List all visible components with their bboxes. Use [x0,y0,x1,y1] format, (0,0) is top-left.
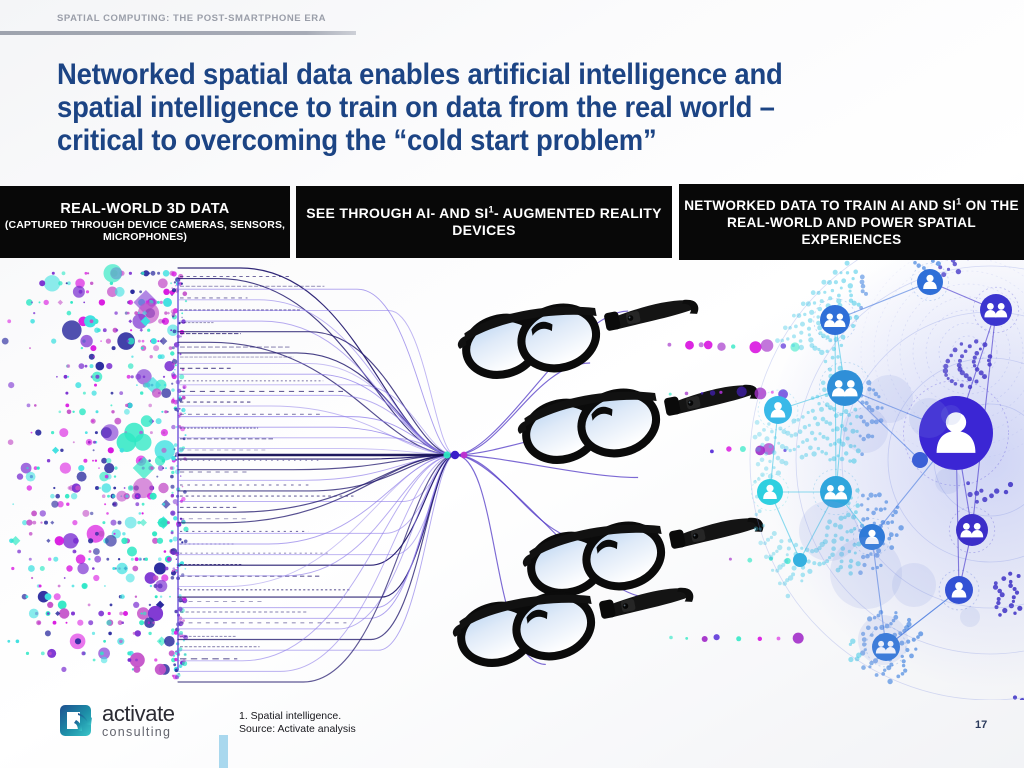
globe-halftone-dot [903,669,907,673]
data-dot [66,503,69,506]
globe-halftone-dot [902,664,905,667]
trail-dot [668,343,672,347]
data-dot [179,538,182,541]
globe-halftone-dot [901,672,905,676]
globe-halftone-dot [792,344,795,347]
globe-halftone-dot [756,447,761,452]
data-dot [71,612,75,616]
data-dot [17,473,23,479]
data-dot [92,567,95,570]
data-dot [51,339,56,344]
data-dot [52,447,59,454]
group-icon-head-left [827,485,834,492]
data-dot [110,282,113,285]
data-dot [31,301,33,303]
globe-halftone-dot [964,349,968,353]
globe-halftone-dot [775,338,780,343]
trail-dot [777,637,781,641]
globe-halftone-dot [801,302,806,307]
globe-halftone-dot [844,451,848,455]
globe-halftone-dot [784,559,789,564]
globe-halftone-dot [771,569,774,572]
data-dot [158,557,162,561]
data-dot [40,510,46,516]
data-dot [79,363,85,369]
data-dot [171,309,175,313]
data-dot [173,499,178,504]
data-dot [53,557,58,562]
data-dot [171,425,175,429]
trail-dot [736,636,741,641]
data-dot [140,391,143,394]
globe-halftone-dot [755,420,760,425]
network-node-group[interactable] [956,514,988,546]
data-dot [62,271,66,275]
data-dot [167,325,178,336]
globe-halftone-dot [828,338,832,342]
data-dot [182,446,185,449]
data-dot [157,538,163,544]
globe-halftone-dot [800,547,803,550]
data-dot [180,336,182,338]
globe-halftone-dot [889,532,894,537]
data-dot [183,386,186,389]
data-dot [85,431,88,434]
globe-halftone-dot [968,492,973,497]
data-dot [108,612,111,615]
trail-dot [685,341,694,350]
group-icon-head-right [837,313,843,319]
globe-halftone-dot [807,569,812,574]
data-dot [142,340,145,343]
globe-halftone-dot [800,455,805,460]
trail-dot [669,636,673,640]
data-dot [72,585,75,588]
data-dot [88,538,93,543]
globe-halftone-dot [852,277,855,280]
data-dot [8,382,14,388]
data-dot [155,664,166,675]
globe-halftone-dot [792,566,797,571]
globe-halftone-dot [754,527,758,531]
globe-halftone-dot [822,435,826,439]
globe-halftone-dot [777,545,782,550]
data-dot [132,566,138,572]
data-dot [27,485,32,490]
data-dot [163,298,172,307]
globe-halftone-dot [861,494,865,498]
globe-halftone-dot [885,500,889,504]
data-dot [163,270,170,277]
globe-halftone-dot [792,314,796,318]
data-dot [59,411,62,414]
data-dot [75,486,80,491]
data-dot [101,657,108,664]
data-dot [139,620,144,625]
globe-halftone-dot [831,356,835,360]
data-dot [135,596,137,598]
data-dot [114,311,117,314]
globe-halftone-dot [816,422,821,427]
data-dot [152,622,154,624]
data-dot [83,392,86,395]
globe-halftone-dot [827,280,832,285]
trail-dot [719,391,722,394]
globe-halftone-dot [812,561,816,565]
globe-halftone-dot [907,618,911,622]
data-dot [60,463,71,474]
data-dot [111,520,117,526]
globe-halftone-dot [1008,572,1012,576]
data-dot [124,487,126,489]
data-dot [174,443,178,447]
data-dot [94,384,97,387]
data-dot [39,280,45,286]
data-dot [80,335,92,347]
globe-halftone-dot [757,477,760,480]
globe-halftone-dot [1013,612,1016,615]
data-dot [44,275,60,291]
data-dot [93,449,95,451]
globe-halftone-dot [799,345,804,350]
data-dot [114,466,117,469]
globe-halftone-dot [871,511,876,516]
data-dot [154,563,166,575]
globe-halftone-dot [768,460,771,463]
data-dot [125,517,137,529]
data-dot [66,282,68,284]
data-dot [153,575,159,581]
data-dot [108,447,114,453]
data-dot [128,300,133,305]
data-dot [44,300,49,305]
globe-halftone-dot [886,665,891,670]
data-dot [153,345,159,351]
globe-halftone-dot [864,292,868,296]
data-dot [148,272,150,274]
data-dot [161,388,171,398]
data-dot [114,475,116,477]
data-dot [95,431,98,434]
data-dot [26,652,29,655]
data-dot [174,448,176,450]
data-dot [150,355,153,358]
data-dot [98,531,104,537]
data-dot [92,460,94,462]
data-dot [167,521,170,524]
data-dot [45,630,51,636]
globe-halftone-dot [831,429,834,432]
globe-halftone-dot [769,445,773,449]
globe-halftone-dot [887,679,892,684]
data-dot [77,620,83,626]
data-dot [26,467,28,469]
globe-halftone-dot [849,643,852,646]
page-title: Networked spatial data enables artificia… [57,58,857,157]
data-dot [160,301,163,304]
trail-dot [750,341,762,353]
data-dot [110,604,113,607]
data-dot [157,340,159,342]
flow-curve [178,417,455,455]
network-node-plain[interactable] [793,553,807,567]
data-dot [167,312,170,315]
globe-halftone-dot [914,648,917,651]
data-dot [184,653,187,656]
globe-halftone-dot [994,581,998,585]
globe-halftone-dot [979,489,983,493]
data-dot [51,501,58,508]
globe-halftone-dot [828,422,832,426]
data-dot [175,610,177,612]
data-dot [127,375,131,379]
smart-glasses [519,496,770,607]
trail-dot [704,341,713,350]
data-dot [135,630,141,636]
globe-halftone-dot [822,387,827,392]
data-dot [169,539,172,542]
data-dot [133,666,140,673]
footnote-line-2: Source: Activate analysis [239,723,356,736]
data-dot [47,602,53,608]
globe-halftone-dot [811,451,816,456]
data-dot [165,567,169,571]
globe-halftone-dot [807,411,810,414]
globe-halftone-dot [1015,591,1019,595]
data-dot [182,486,184,488]
data-dot [127,312,130,315]
globe-halftone-dot [808,333,811,336]
data-dot [82,651,86,655]
data-dot [79,408,86,415]
data-dot [159,640,161,642]
data-dot [128,319,132,323]
focal-node-magenta [461,452,468,459]
data-dot [87,272,89,274]
data-dot [180,353,182,355]
data-dot [181,408,185,412]
trail-dot [710,390,715,395]
globe-halftone-dot [786,594,791,599]
globe-halftone-dot [947,377,950,380]
globe-halftone-dot [879,508,883,512]
data-dot [85,272,88,275]
globe-halftone-dot [1017,574,1021,578]
globe-halftone-dot [894,611,897,614]
data-dot [116,329,119,332]
smart-glasses [514,363,765,474]
data-dot [82,583,88,589]
data-dot [77,563,88,574]
data-dot [146,320,148,322]
trail-dot [717,343,725,351]
data-dot [7,640,10,643]
flow-outgoing-curve [455,455,589,541]
data-dot [112,346,116,350]
focal-node-indigo [451,451,459,459]
trail-dot [702,636,708,642]
network-node-group[interactable] [820,305,850,335]
data-dot [81,347,83,349]
data-dot [139,558,141,560]
data-dot [171,492,173,494]
data-dot [171,632,174,635]
data-dot [107,495,110,498]
data-dot [170,329,172,331]
data-dot [116,563,127,574]
data-dot [180,475,181,476]
data-dot [141,272,144,275]
data-dot [169,346,173,350]
globe-halftone-dot [979,348,982,351]
data-dot [122,532,125,535]
data-dot [99,299,105,305]
data-dot [117,432,137,452]
globe-halftone-dot [1012,595,1016,599]
globe-halftone-dot [840,344,843,347]
network-node-plain[interactable] [912,452,928,468]
data-dot [159,337,167,345]
data-dot [164,384,166,386]
globe-halftone-dot [764,466,768,470]
globe-halftone-dot [997,597,1001,601]
data-dot [32,521,36,525]
data-dot [39,585,42,588]
data-dot [26,472,36,482]
data-dot [124,409,130,415]
data-dot [161,411,163,413]
trail-dot [699,342,704,347]
data-dot [121,538,127,544]
data-dot [78,465,84,471]
data-dot [128,363,134,369]
data-dot [48,558,51,561]
data-dot [40,522,42,524]
data-dot [170,466,173,469]
data-dot [51,431,54,434]
data-dot [185,568,187,570]
globe-halftone-dot [1017,606,1022,611]
data-dot [29,347,31,349]
data-dot [160,596,162,598]
data-dot [67,364,71,368]
data-dot [108,632,112,636]
globe-halftone-dot [823,291,826,294]
globe-bubble [935,468,961,494]
globe-halftone-dot [828,458,831,461]
globe-halftone-dot [764,452,768,456]
globe-halftone-dot [765,436,770,441]
globe-halftone-dot [813,301,816,304]
data-dot [184,540,188,544]
data-dot [113,487,116,490]
data-dot [104,585,106,587]
globe-halftone-dot [801,415,805,419]
globe-halftone-dot [968,344,972,348]
trail-dot [685,637,688,640]
person-icon-head [868,530,875,537]
data-dot [93,441,96,444]
data-dot [102,521,105,524]
data-dot [171,531,174,534]
globe-halftone-dot [786,553,789,556]
data-dot [157,272,160,275]
globe-halftone-dot [783,326,788,331]
data-dot [93,356,95,358]
network-node-group[interactable] [827,370,863,406]
globe-halftone-dot [982,497,987,502]
data-dot [172,288,176,292]
data-dot [83,302,85,304]
data-dot [83,459,87,463]
data-dot [17,550,21,554]
globe-halftone-dot [1001,576,1006,581]
data-dot [55,536,64,545]
data-dot [67,410,72,415]
data-dot [170,511,175,516]
globe-halftone-dot [760,458,765,463]
globe-halftone-dot [979,370,984,375]
data-dot [65,404,69,408]
globe-halftone-dot [916,635,920,639]
data-dot [181,312,183,314]
globe-halftone-dot [1004,490,1008,494]
globe-bubble [865,375,913,423]
glasses-hinge [604,311,622,331]
network-node-group[interactable] [980,294,1012,326]
globe-halftone-dot [816,321,821,326]
globe-halftone-dot [782,429,787,434]
data-dot [100,340,102,342]
data-dot [169,596,171,598]
globe-halftone-dot [836,355,840,359]
data-dot [123,611,128,616]
data-dot [29,532,33,536]
globe-halftone-dot [896,675,900,679]
data-dot [88,558,90,560]
globe-halftone-dot [805,438,809,442]
data-dot [171,576,175,580]
data-dot [118,558,120,560]
data-dot [85,365,88,368]
data-dot [172,570,174,572]
data-dot [167,557,172,562]
data-dot [76,554,86,564]
data-dot [77,472,87,482]
main-visualization [0,260,1024,700]
globe-halftone-dot [848,657,853,662]
trail-dot [793,633,804,644]
data-dot [148,621,151,624]
globe-halftone-dot [845,261,850,266]
globe-halftone-dot [817,402,820,405]
data-dot [11,536,20,545]
globe-halftone-dot [834,280,838,284]
globe-halftone-dot [987,359,990,362]
logo-tagline: consulting [102,726,175,739]
slide-canvas: Spatial computing: The post-smartphone e… [0,0,1024,768]
data-dot [158,483,168,493]
globe-halftone-dot [758,541,763,546]
data-dot [26,520,32,526]
data-dot [149,604,151,606]
data-dot [8,439,14,445]
globe-halftone-dot [998,613,1002,617]
data-dot [148,632,151,635]
data-dot [179,396,182,399]
data-dot [103,328,107,332]
data-dot [75,638,81,644]
